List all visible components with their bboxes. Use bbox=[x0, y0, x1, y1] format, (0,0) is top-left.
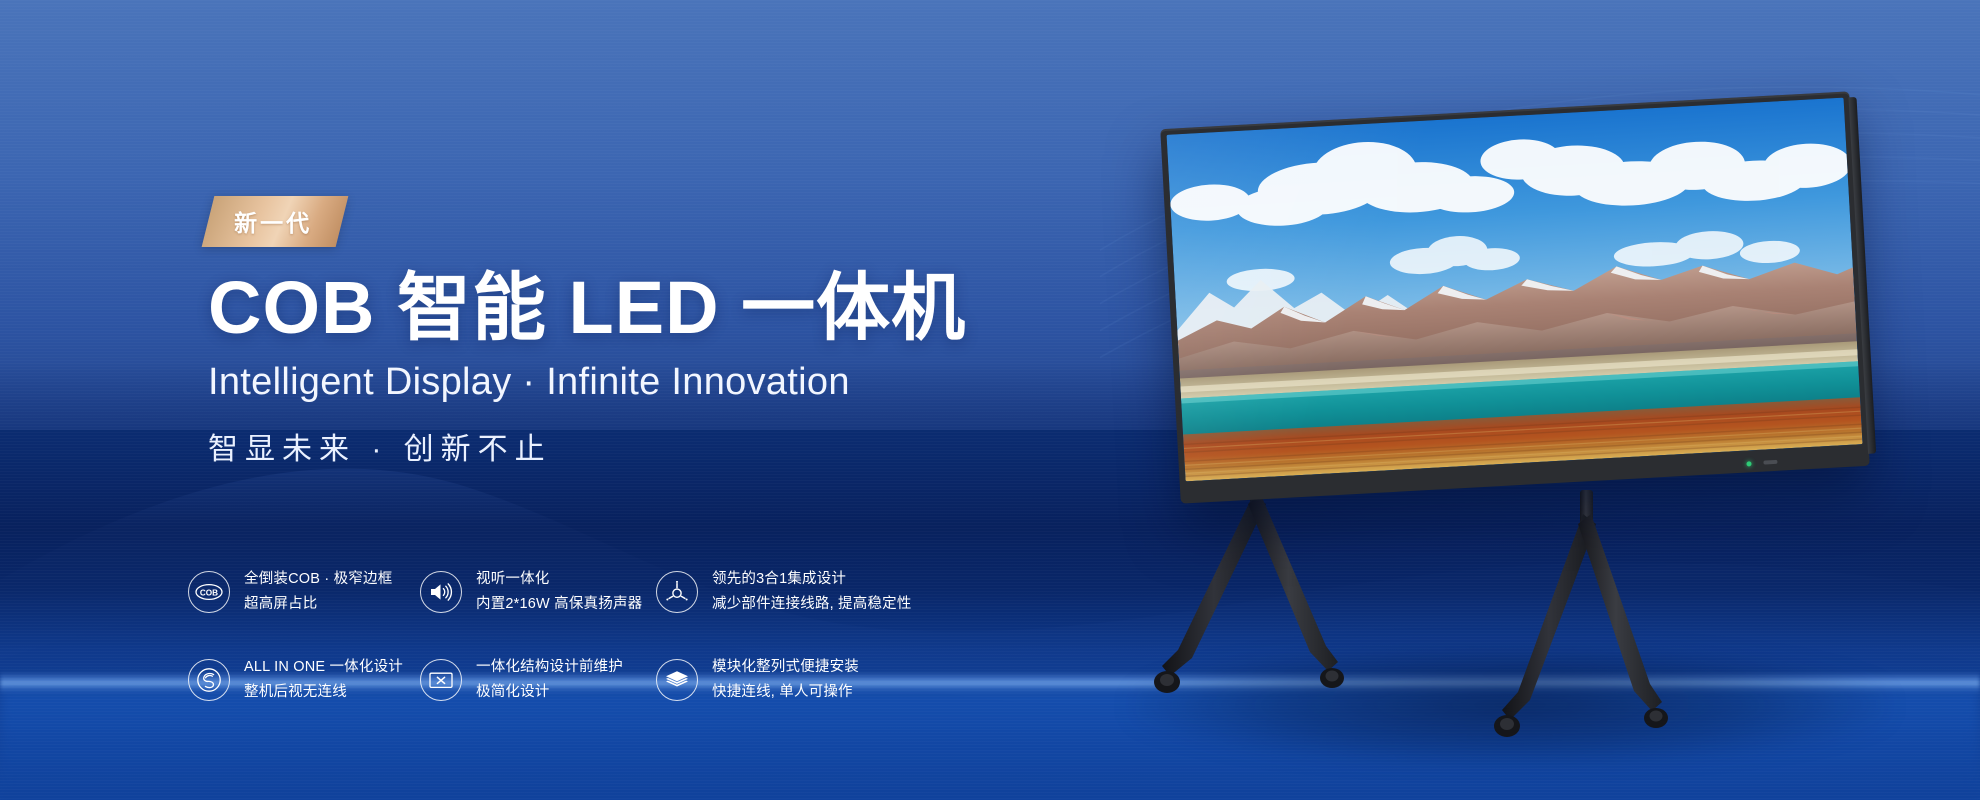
feature-item-3in1: 领先的3合1集成设计 减少部件连接线路, 提高稳定性 bbox=[656, 548, 916, 636]
hero-tagline: 智显未来 · 创新不止 bbox=[208, 424, 1028, 468]
cob-eye-icon: COB bbox=[188, 571, 230, 613]
new-generation-badge: 新一代 bbox=[202, 196, 349, 247]
feature-line2: 快捷连线, 单人可操作 bbox=[712, 682, 859, 704]
feature-item-cob: COB 全倒装COB · 极窄边框 超高屏占比 bbox=[188, 548, 420, 636]
feature-line2: 内置2*16W 高保真扬声器 bbox=[476, 594, 642, 616]
hero-copy-block: 新一代 COB 智能 LED 一体机 Intelligent Display ·… bbox=[208, 196, 1028, 468]
feature-item-modular: 模块化整列式便捷安装 快捷连线, 单人可操作 bbox=[656, 636, 916, 724]
feature-line1: 全倒装COB · 极窄边框 bbox=[244, 569, 392, 591]
feature-line1: 一体化结构设计前维护 bbox=[476, 657, 623, 679]
feature-line2: 整机后视无连线 bbox=[244, 682, 403, 704]
front-maintenance-icon bbox=[420, 659, 462, 701]
ir-receiver-window bbox=[1763, 460, 1777, 465]
svg-text:COB: COB bbox=[200, 588, 218, 597]
feature-item-front-maintenance: 一体化结构设计前维护 极简化设计 bbox=[420, 636, 656, 724]
feature-line1: ALL IN ONE 一体化设计 bbox=[244, 657, 403, 679]
feature-line2: 极简化设计 bbox=[476, 682, 623, 704]
feature-item-all-in-one: ALL IN ONE 一体化设计 整机后视无连线 bbox=[188, 636, 420, 724]
screen-content bbox=[1167, 98, 1863, 482]
feature-line1: 模块化整列式便捷安装 bbox=[712, 657, 859, 679]
power-led-indicator bbox=[1746, 461, 1751, 466]
modular-layers-icon bbox=[656, 659, 698, 701]
feature-line2: 超高屏占比 bbox=[244, 594, 392, 616]
feature-line2: 减少部件连接线路, 提高稳定性 bbox=[712, 594, 912, 616]
feature-line1: 视听一体化 bbox=[476, 569, 642, 591]
three-in-one-icon bbox=[656, 571, 698, 613]
product-display-unit bbox=[1120, 90, 1980, 800]
display-bezel bbox=[1160, 91, 1870, 503]
all-in-one-spiral-icon bbox=[188, 659, 230, 701]
hero-subline: Intelligent Display · Infinite Innovatio… bbox=[208, 361, 1028, 404]
feature-item-audio: 视听一体化 内置2*16W 高保真扬声器 bbox=[420, 548, 656, 636]
speaker-icon bbox=[420, 571, 462, 613]
page-title: COB 智能 LED 一体机 bbox=[208, 269, 1028, 347]
badge-label: 新一代 bbox=[234, 204, 312, 238]
feature-line1: 领先的3合1集成设计 bbox=[712, 569, 912, 591]
product-banner: 新一代 COB 智能 LED 一体机 Intelligent Display ·… bbox=[0, 0, 1980, 800]
led-panel-wrapper bbox=[1160, 91, 1870, 503]
feature-list: COB 全倒装COB · 极窄边框 超高屏占比 bbox=[188, 548, 916, 724]
